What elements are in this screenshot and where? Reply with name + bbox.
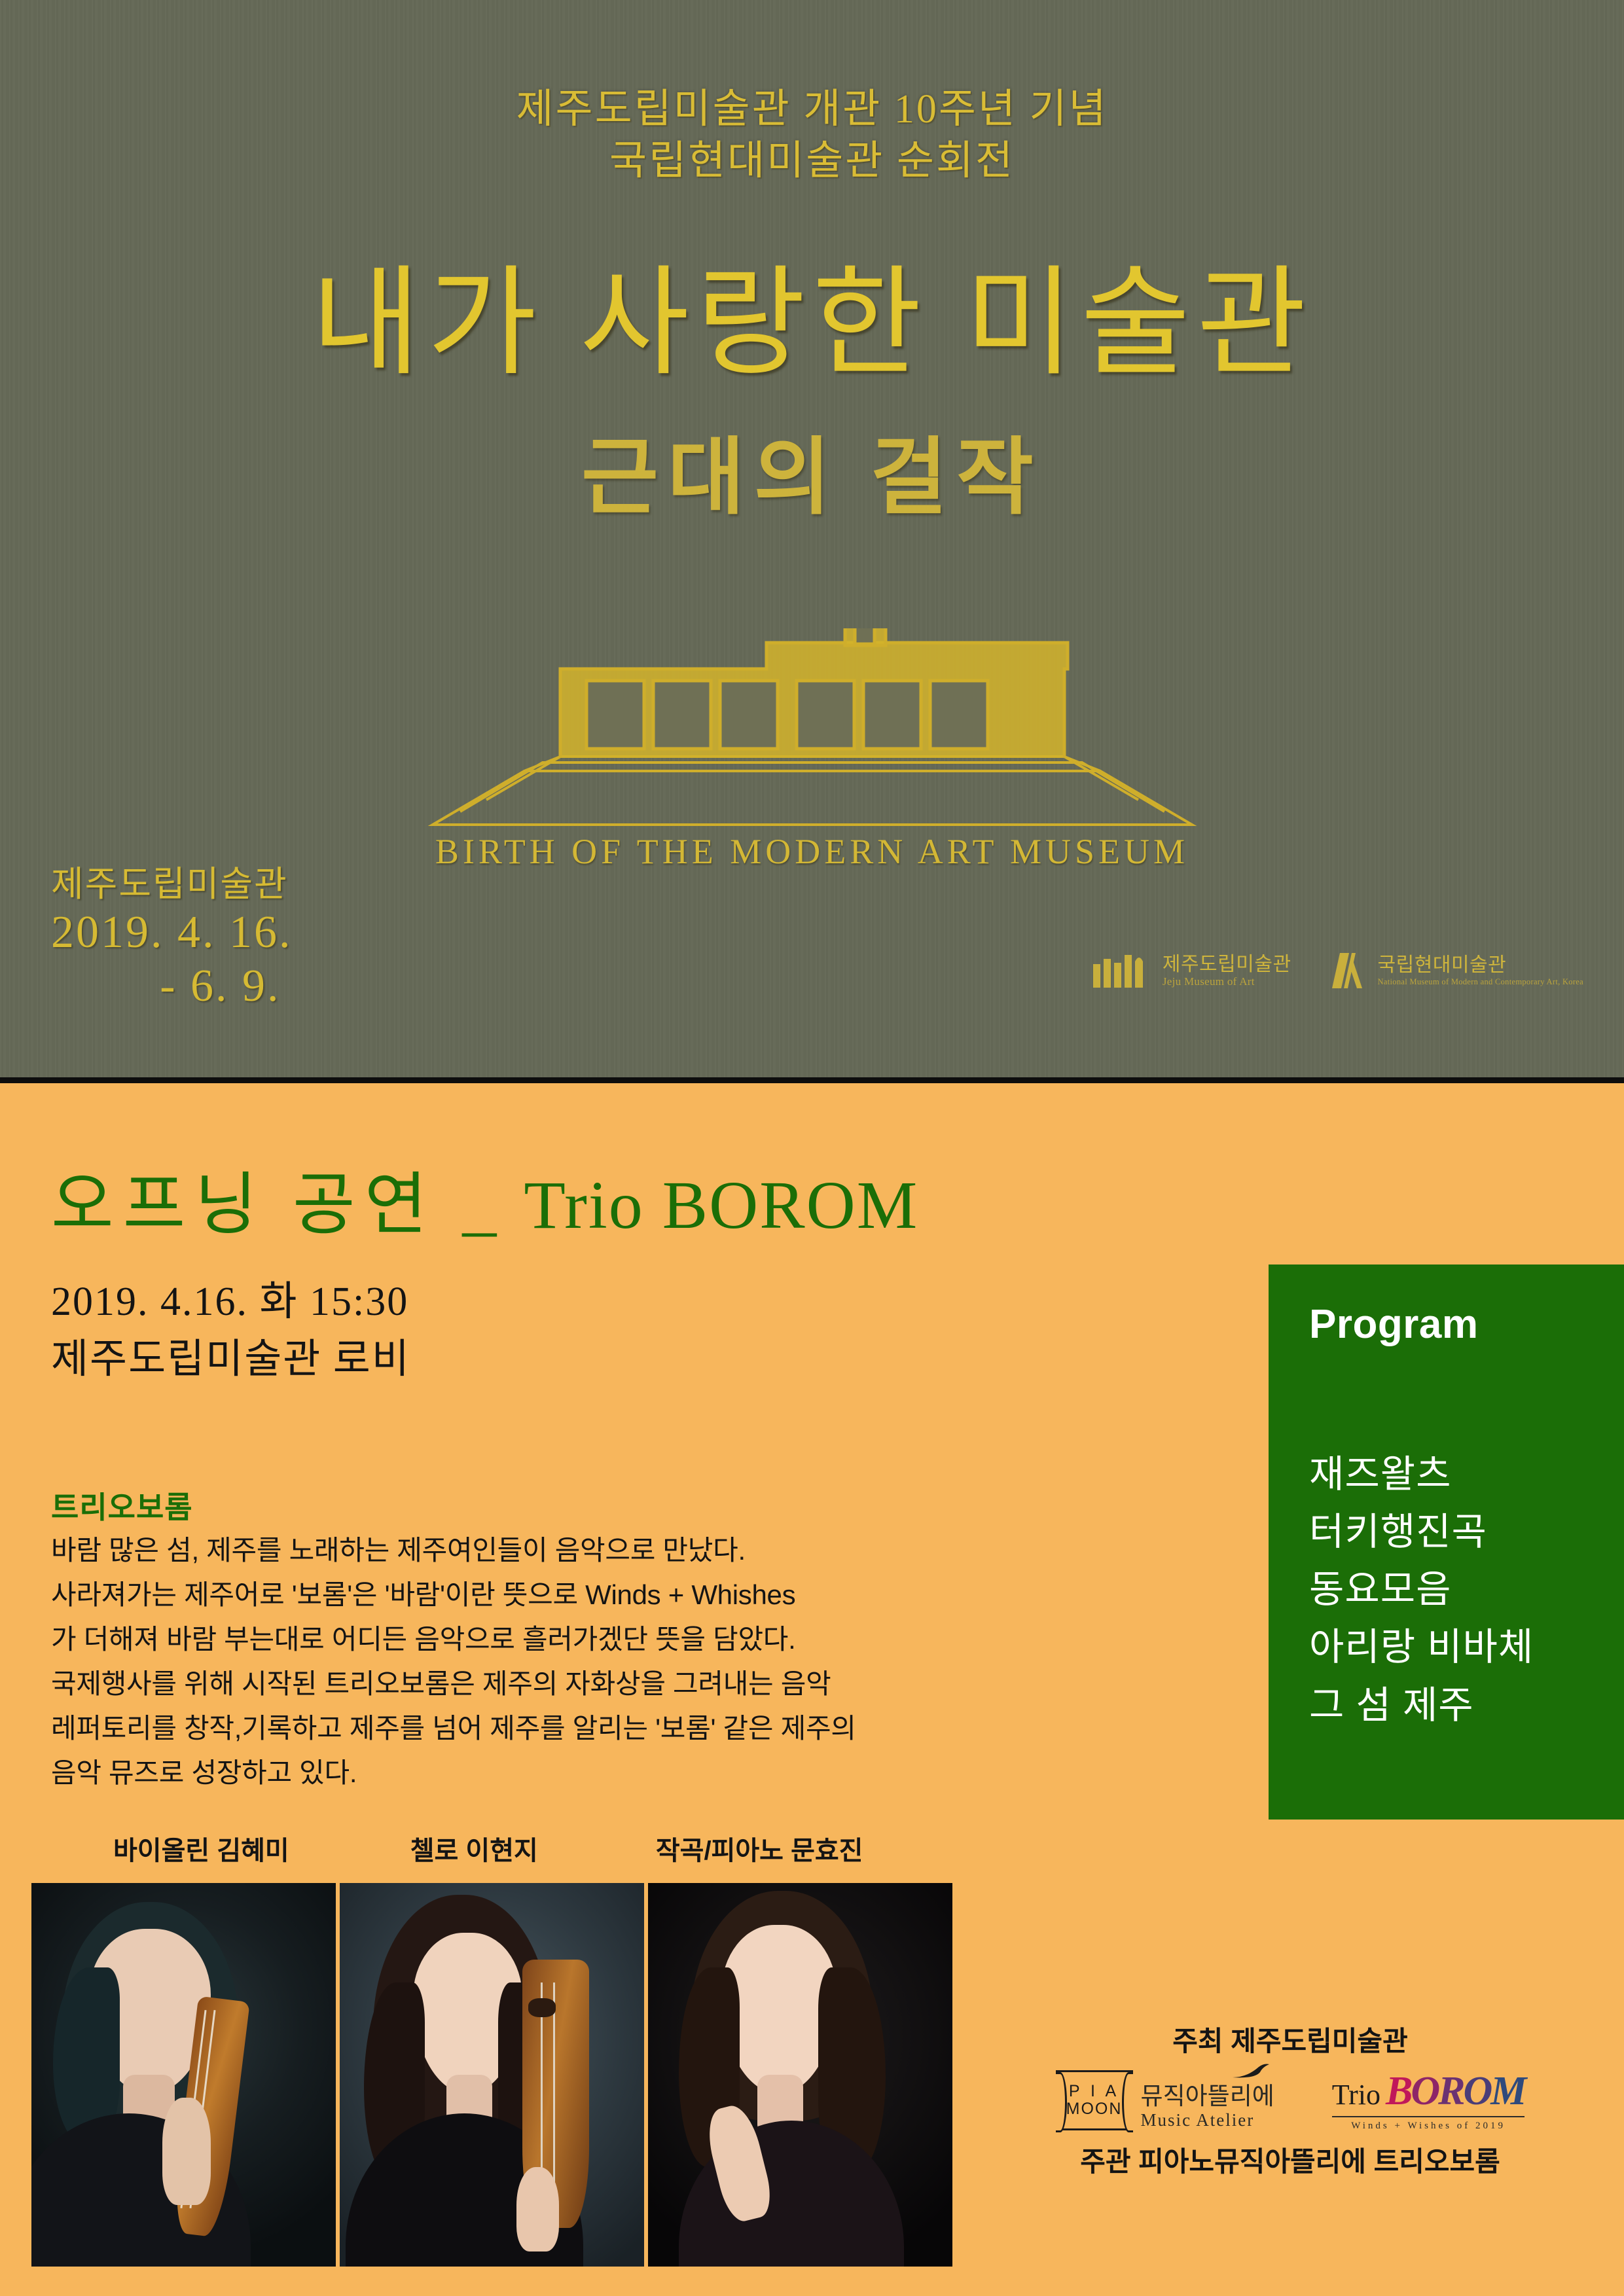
museum-building-icon	[426, 628, 1199, 844]
performer-credit: 첼로 이현지	[410, 1829, 538, 1867]
trio-borom-wordmark: Trio BOROM	[1332, 2068, 1525, 2115]
header-logo-group: 제주도립미술관 Jeju Museum of Art 국립현대미술관 Natio…	[1092, 950, 1583, 991]
trio-borom-logo: Trio BOROM Winds + Wishes of 2019	[1332, 2068, 1525, 2132]
program-item: 재즈왈츠	[1309, 1446, 1624, 1503]
exhibition-date-end: - 6. 9.	[51, 960, 293, 1014]
feather-icon	[1231, 2063, 1272, 2080]
group-name: 트리오보롬	[51, 1484, 193, 1527]
trio-borom-script: BOROM	[1386, 2068, 1525, 2115]
program-list: 재즈왈츠 터키행진곡 동요모음 아리랑 비바체 그 섬 제주	[1309, 1446, 1624, 1734]
piamoon-wordmark: 뮤직아뜰리에 Music Atelier	[1141, 2083, 1274, 2130]
trio-borom-prefix: Trio	[1332, 2078, 1380, 2111]
concert-title: 오프닝 공연 _ Trio BOROM	[51, 1149, 918, 1247]
group-description-line: 국제행사를 위해 시작된 트리오보롬은 제주의 자화상을 그려내는 음악	[51, 1662, 1013, 1706]
program-panel: Program 재즈왈츠 터키행진곡 동요모음 아리랑 비바체 그 섬 제주	[1269, 1265, 1624, 1820]
piamoon-logo: P I A MOON 뮤직아뜰리에 Music Atelier	[1056, 2070, 1274, 2130]
mmca-name-en: National Museum of Modern and Contempora…	[1378, 977, 1583, 987]
group-description-line: 가 더해져 바람 부는대로 어디든 음악으로 흘러가겠단 뜻을 담았다.	[51, 1617, 1013, 1662]
trio-borom-rule	[1332, 2116, 1525, 2117]
exhibition-kicker-line-2: 국립현대미술관 순회전	[0, 135, 1624, 187]
group-description: 바람 많은 섬, 제주를 노래하는 제주여인들이 음악으로 만났다. 사라져가는…	[51, 1528, 1013, 1795]
piamoon-name-ko: 뮤직아뜰리에	[1141, 2083, 1274, 2109]
section-divider	[0, 1077, 1624, 1083]
program-item: 터키행진곡	[1309, 1503, 1624, 1561]
group-description-line: 바람 많은 섬, 제주를 노래하는 제주여인들이 음악으로 만났다.	[51, 1528, 1013, 1573]
performer-photo-violinist	[31, 1883, 336, 2267]
jeju-museum-logo-text: 제주도립미술관 Jeju Museum of Art	[1163, 954, 1291, 988]
sponsor-block: 주최 제주도립미술관 P I A MOON 뮤직아뜰리에 Music Ateli…	[1055, 2019, 1526, 2179]
exhibition-kicker: 제주도립미술관 개관 10주년 기념 국립현대미술관 순회전	[0, 84, 1624, 188]
concert-title-ko: 오프닝 공연 _	[51, 1168, 505, 1243]
exhibition-subtitle: 근대의 걸작	[0, 432, 1624, 524]
mmca-logo: 국립현대미술관 National Museum of Modern and Co…	[1327, 950, 1583, 991]
mmca-logo-mark	[1327, 950, 1367, 991]
concert-datetime-block: 2019. 4.16. 화 15:30 제주도립미술관 로비	[51, 1273, 410, 1388]
host-line: 주최 제주도립미술관	[1055, 2019, 1526, 2059]
piamoon-name-en: Music Atelier	[1141, 2110, 1274, 2130]
piamoon-badge: P I A MOON	[1056, 2070, 1133, 2130]
program-item: 그 섬 제주	[1309, 1677, 1624, 1734]
group-description-line: 레퍼토리를 창작,기록하고 제주를 넘어 제주를 알리는 '보롬' 같은 제주의	[51, 1706, 1013, 1751]
concert-venue: 제주도립미술관 로비	[51, 1331, 410, 1388]
exhibition-title: 내가 사랑한 미술관	[0, 262, 1624, 387]
performer-credits: 바이올린 김혜미 첼로 이현지 작곡/피아노 문효진	[51, 1829, 967, 1867]
concert-datetime: 2019. 4.16. 화 15:30	[51, 1273, 410, 1331]
exhibition-venue-date-block: 제주도립미술관 2019. 4. 16. - 6. 9.	[51, 864, 293, 1014]
program-heading: Program	[1309, 1301, 1624, 1348]
group-description-line: 음악 뮤즈로 성장하고 있다.	[51, 1751, 1013, 1795]
organizer-line: 주관 피아노뮤직아뜰리에 트리오보롬	[1055, 2140, 1526, 2179]
performer-photo-strip	[31, 1883, 952, 2267]
mmca-name-ko: 국립현대미술관	[1378, 954, 1583, 977]
piamoon-badge-bottom: MOON	[1066, 2100, 1123, 2118]
jeju-museum-name-en: Jeju Museum of Art	[1163, 975, 1291, 988]
performer-credit: 작곡/피아노 문효진	[656, 1829, 863, 1867]
program-item: 아리랑 비바체	[1309, 1619, 1624, 1676]
exhibition-header-section: 제주도립미술관 개관 10주년 기념 국립현대미술관 순회전 내가 사랑한 미술…	[0, 0, 1624, 1082]
group-description-line: 사라져가는 제주어로 '보롬'은 '바람'이란 뜻으로 Winds + Whis…	[51, 1573, 1013, 1617]
exhibition-date-start: 2019. 4. 16.	[51, 906, 293, 960]
jeju-museum-name-ko: 제주도립미술관	[1163, 954, 1291, 976]
exhibition-kicker-line-1: 제주도립미술관 개관 10주년 기념	[0, 84, 1624, 135]
piamoon-badge-top: P I A	[1069, 2083, 1119, 2100]
jeju-museum-logo: 제주도립미술관 Jeju Museum of Art	[1092, 952, 1291, 989]
exhibition-venue: 제주도립미술관	[51, 864, 293, 906]
concert-section: 오프닝 공연 _ Trio BOROM 2019. 4.16. 화 15:30 …	[0, 1083, 1624, 2296]
performer-photo-pianist	[648, 1883, 952, 2267]
performer-credit: 바이올린 김혜미	[113, 1829, 289, 1867]
jeju-museum-logo-mark	[1092, 952, 1152, 989]
sponsor-logo-row: P I A MOON 뮤직아뜰리에 Music Atelier Trio	[1055, 2068, 1526, 2132]
program-item: 동요모음	[1309, 1561, 1624, 1619]
performer-photo-cellist	[340, 1883, 644, 2267]
mmca-logo-text: 국립현대미술관 National Museum of Modern and Co…	[1378, 954, 1583, 987]
concert-title-en: Trio BOROM	[524, 1168, 918, 1243]
poster-root: 제주도립미술관 개관 10주년 기념 국립현대미술관 순회전 내가 사랑한 미술…	[0, 0, 1624, 2296]
trio-borom-tagline: Winds + Wishes of 2019	[1332, 2121, 1525, 2132]
